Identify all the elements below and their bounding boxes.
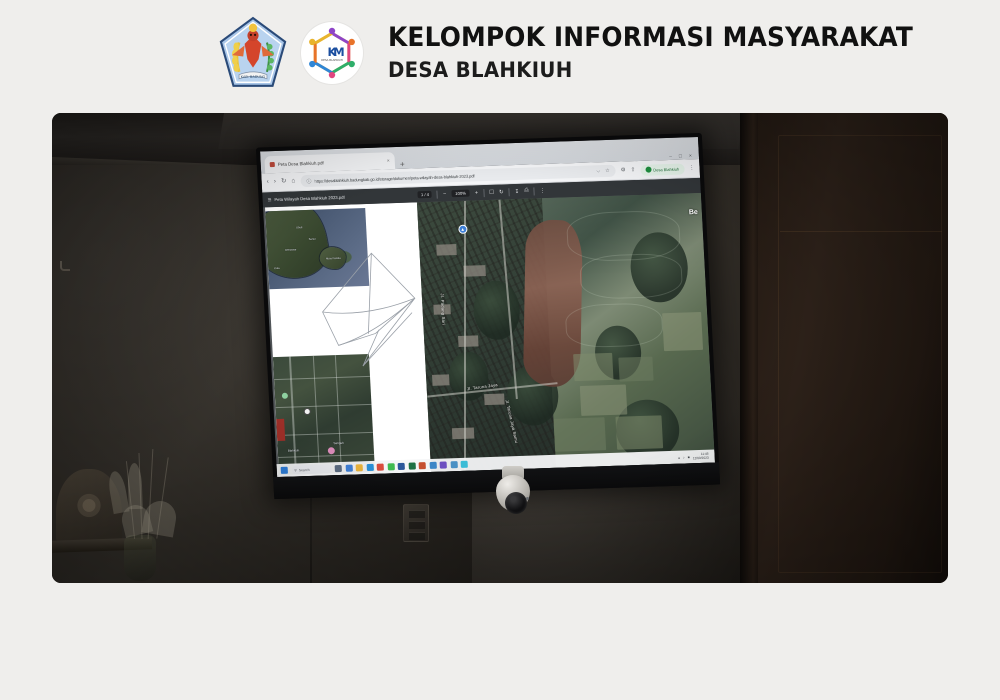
profile-label: Desa Blahkiuh <box>653 166 679 172</box>
maximize-icon[interactable]: □ <box>679 154 682 160</box>
puzzle-icon[interactable]: ⚙ <box>621 167 626 173</box>
zoom-in-button[interactable]: + <box>475 190 479 196</box>
badung-regency-emblem-icon: KAB. BADUNG <box>218 16 288 90</box>
poster-page: KAB. BADUNG <box>0 0 1000 700</box>
wifi-icon[interactable]: ▴ <box>678 455 680 459</box>
address-bar-url: https://desablahkiuh.badungkab.go.id/sto… <box>314 173 474 183</box>
inset-map-label: Ubud <box>296 226 302 229</box>
zoom-out-button[interactable]: − <box>443 191 447 197</box>
pdf-zoom-level[interactable]: 100% <box>451 190 470 198</box>
close-window-icon[interactable]: × <box>689 153 692 159</box>
camera-body <box>496 475 530 511</box>
pdf-favicon <box>270 162 275 167</box>
balinese-carving-decor-icon <box>52 431 222 583</box>
region-map-label: Blahkiuh <box>288 448 300 452</box>
kim-community-logo-icon: K M DESA BLAHKIUH <box>301 22 363 84</box>
switch-rocker <box>409 521 425 529</box>
task-view-icon[interactable] <box>335 465 342 472</box>
poster-header: KAB. BADUNG <box>0 0 1000 105</box>
room-photo: Peta Desa Blahkiuh.pdf × + – □ × ‹ › ↻ ⌂ <box>52 113 948 583</box>
forward-icon[interactable]: › <box>274 179 277 186</box>
page-subtitle: DESA BLAHKIUH <box>388 60 924 81</box>
switch-rocker <box>409 510 425 518</box>
cctv-dome-camera-icon <box>493 466 533 518</box>
browser-tab-title: Peta Desa Blahkiuh.pdf <box>278 160 324 167</box>
star-icon[interactable]: ☆ <box>605 168 610 174</box>
door-seam <box>780 231 942 232</box>
kebab-menu-icon[interactable]: ⋮ <box>689 165 695 171</box>
header-titles: KELOMPOK INFORMASI MASYARAKAT DESA BLAHK… <box>388 24 959 81</box>
print-icon[interactable]: ⎙ <box>524 188 529 195</box>
chrome-icon[interactable] <box>377 464 384 471</box>
install-icon[interactable]: ⌵ <box>596 168 600 174</box>
divider <box>533 187 534 195</box>
profile-chip[interactable]: Desa Blahkiuh <box>640 163 684 175</box>
minimize-icon[interactable]: – <box>669 154 672 160</box>
inset-map-label: Kuta <box>274 267 279 270</box>
edge-icon[interactable] <box>366 464 373 471</box>
camera-lens <box>505 492 527 514</box>
inset-map-label: Denpasar <box>285 248 296 251</box>
battery-icon[interactable]: ■ <box>688 455 690 459</box>
satellite-imagery[interactable]: ▲ Jl. Padang Sari Jl. Taruna Jaya Jl. Ta… <box>417 193 715 472</box>
place-label: Be <box>689 209 698 216</box>
camera-led <box>526 497 529 500</box>
divider <box>483 189 484 197</box>
more-options-icon[interactable]: ⋮ <box>540 188 546 194</box>
photos-icon[interactable] <box>440 461 447 468</box>
map-marker <box>282 393 288 399</box>
close-icon[interactable]: × <box>387 158 390 164</box>
inset-map-label: Sanur <box>309 238 316 241</box>
excel-icon[interactable] <box>408 462 415 469</box>
switch-rocker <box>409 532 425 540</box>
widgets-icon[interactable] <box>345 465 352 472</box>
search-input[interactable]: ⚲ Search <box>291 464 331 474</box>
search-icon: ⚲ <box>294 468 297 472</box>
new-tab-button[interactable]: + <box>400 161 405 169</box>
page-title: KELOMPOK INFORMASI MASYARAKAT <box>388 24 913 51</box>
fit-page-icon[interactable]: ☐ <box>489 189 494 195</box>
store-icon[interactable] <box>429 462 436 469</box>
whatsapp-icon[interactable] <box>387 463 394 470</box>
avatar <box>645 167 651 173</box>
file-explorer-icon[interactable] <box>356 464 363 471</box>
wall-display: Peta Desa Blahkiuh.pdf × + – □ × ‹ › ↻ ⌂ <box>256 133 720 499</box>
page-info-icon[interactable]: ⓘ <box>306 177 311 184</box>
share-icon[interactable]: ⇪ <box>631 167 636 173</box>
back-icon[interactable]: ‹ <box>267 179 270 186</box>
reload-icon[interactable]: ↻ <box>281 178 287 185</box>
document-icon: ☰ <box>267 197 271 202</box>
pdf-page-indicator[interactable]: 1 / 4 <box>418 191 433 198</box>
region-map-label: Sangeh <box>333 441 344 445</box>
canva-icon[interactable] <box>461 461 468 468</box>
omnibox-actions: ⌵ ☆ <box>596 168 610 174</box>
pdf-page: Ubud Denpasar Nusa Penida Kuta Sanur <box>265 202 431 477</box>
window-controls: – □ × <box>669 153 695 160</box>
pdf-content-area[interactable]: Ubud Denpasar Nusa Penida Kuta Sanur <box>263 193 715 477</box>
north-arrow-icon <box>315 246 431 399</box>
vase <box>124 535 156 581</box>
system-tray: ▴ ♪ ■ 11:48 12/09/2023 <box>678 453 711 461</box>
divider <box>437 190 438 198</box>
windows-start-icon[interactable] <box>281 467 288 474</box>
divider <box>508 188 509 196</box>
wooden-door-icon <box>758 113 948 583</box>
download-icon[interactable]: ↧ <box>515 188 520 194</box>
taskbar-clock[interactable]: 11:48 12/09/2023 <box>693 453 709 460</box>
rotate-icon[interactable]: ↻ <box>499 189 504 195</box>
region-highlight-marker <box>276 419 285 441</box>
clock-date: 12/09/2023 <box>693 455 709 460</box>
svg-text:M: M <box>333 44 345 58</box>
light-switch-icon <box>403 504 429 542</box>
door-panel <box>778 135 942 573</box>
powerpoint-icon[interactable] <box>419 462 426 469</box>
pdf-filename: Peta Wilayah Desa Blahkiuh 2023.pdf <box>274 195 345 202</box>
volume-icon[interactable]: ♪ <box>683 455 685 459</box>
settings-icon[interactable] <box>450 461 457 468</box>
svg-text:KAB. BADUNG: KAB. BADUNG <box>241 75 266 79</box>
home-icon[interactable]: ⌂ <box>291 178 295 185</box>
svg-text:DESA BLAHKIUH: DESA BLAHKIUH <box>321 58 342 62</box>
wall-hook-icon <box>60 261 70 271</box>
map-marker <box>304 408 311 415</box>
display-screen: Peta Desa Blahkiuh.pdf × + – □ × ‹ › ↻ ⌂ <box>260 137 715 477</box>
search-placeholder: Search <box>299 467 310 471</box>
word-icon[interactable] <box>398 463 405 470</box>
map-marker <box>328 447 335 454</box>
